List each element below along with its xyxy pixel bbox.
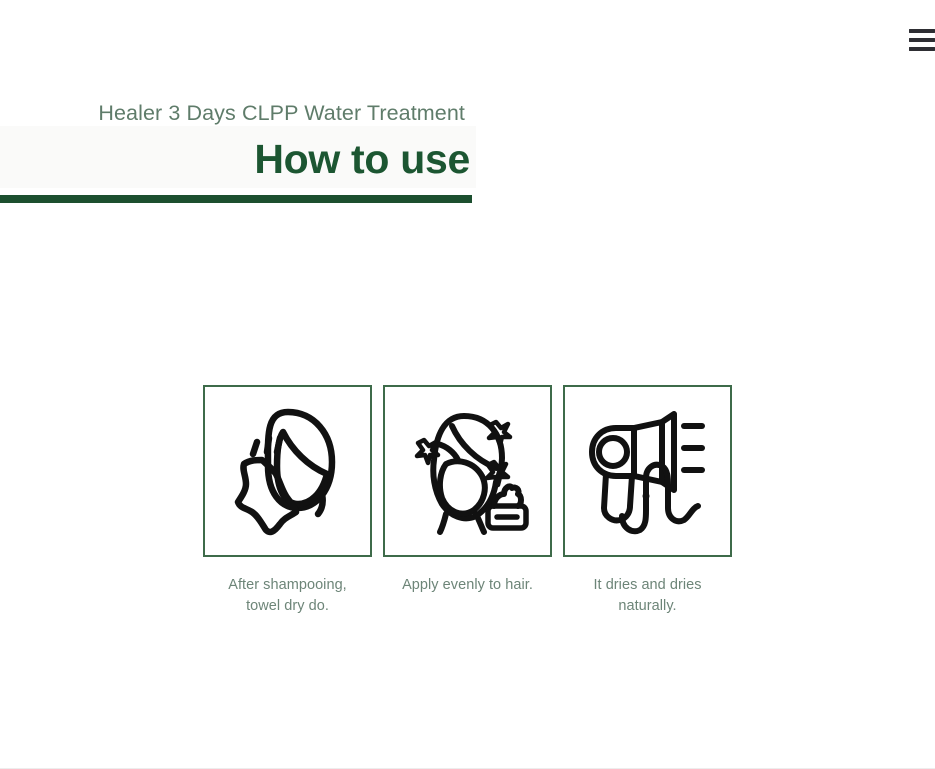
step-2-caption: Apply evenly to hair. (380, 575, 555, 596)
step-3: It dries and dries naturally. (563, 385, 732, 617)
step-1-icon-box (203, 385, 372, 557)
how-to-use-steps: After shampooing, towel dry do. (203, 385, 733, 617)
step-1-caption: After shampooing, towel dry do. (200, 575, 375, 617)
product-subtitle: Healer 3 Days CLPP Water Treatment (0, 99, 472, 127)
top-bar (0, 0, 935, 80)
hamburger-menu-icon[interactable] (909, 29, 935, 51)
step-2: Apply evenly to hair. (383, 385, 552, 617)
page-root: Healer 3 Days CLPP Water Treatment How t… (0, 0, 935, 769)
title-underline-rule (0, 195, 472, 203)
hair-dryer-icon (582, 404, 714, 538)
step-3-caption: It dries and dries naturally. (560, 575, 735, 617)
step-2-caption-line1: Apply evenly to hair. (402, 577, 533, 593)
step-2-icon-box (383, 385, 552, 557)
step-3-icon-box (563, 385, 732, 557)
hamburger-bar-1 (909, 29, 935, 33)
step-1: After shampooing, towel dry do. (203, 385, 372, 617)
page-title: How to use (0, 134, 472, 184)
step-1-caption-line2: towel dry do. (246, 598, 329, 614)
hamburger-bar-2 (909, 38, 935, 42)
towel-dry-hair-icon (222, 404, 354, 538)
hamburger-bar-3 (909, 47, 935, 51)
step-3-caption-line2: naturally. (618, 598, 676, 614)
step-3-caption-line1: It dries and dries (593, 577, 701, 593)
step-1-caption-line1: After shampooing, (228, 577, 347, 593)
apply-product-to-hair-icon (402, 404, 534, 538)
